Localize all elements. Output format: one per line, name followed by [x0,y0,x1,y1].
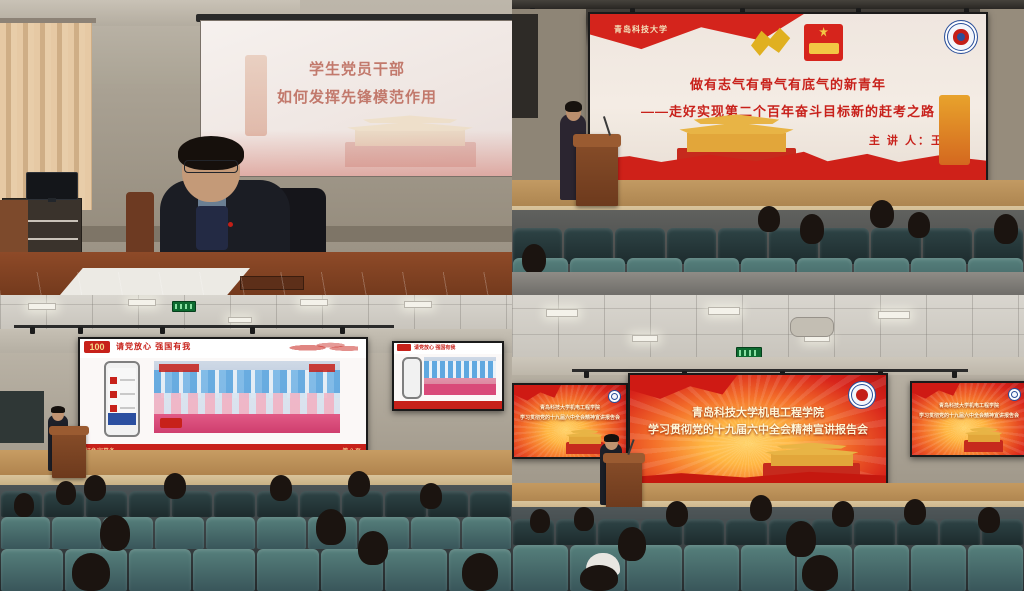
phone-mockup [104,361,140,437]
seat [193,549,255,591]
university-seal [944,20,978,54]
audience-head [100,515,130,551]
monument-right-graphic [939,95,971,166]
phone-bottom-banner [108,413,136,425]
seat [129,549,191,591]
side-screen-left-line2: 学习贯彻党的十九届六中全会精神宣讲报告会 [514,414,626,421]
ceiling-lamp [404,301,432,308]
led-screen[interactable]: 100 请党放心 强国有我 [78,337,368,458]
audience-head [348,471,370,497]
audience-head [870,200,894,228]
seat [726,519,767,545]
podium-top [573,134,622,147]
seat [257,549,319,591]
seat [385,549,447,591]
photo-top-left[interactable]: 学生党员干部 如何发挥先锋模范作用 [0,0,512,295]
ceiling-lamp [632,335,658,342]
side-screen-left-line1: 青岛科技大学机电工程学院 [514,404,626,411]
university-name-logo: 青岛科技大学 [614,24,668,35]
parade-front-row [154,393,340,415]
ceiling [512,295,1024,361]
spotlight-icon [340,327,345,334]
floor-front [512,272,1024,295]
seat [940,519,981,545]
side-screen-right[interactable]: 青岛科技大学机电工程学院 学习贯彻党的十九届六中全会精神宣讲报告会 [910,381,1024,457]
audience-head [14,493,34,517]
photo-bottom-left[interactable]: 100 请党放心 强国有我 [0,295,512,591]
speaker-glasses [184,160,238,173]
audience-seat-row [0,517,512,549]
slide-red-wash [201,130,512,177]
spotlight-icon [952,371,957,378]
audience-head [786,521,816,557]
seat [854,545,909,591]
audience-head [750,495,772,521]
audience-head [832,501,854,527]
phone-feed-item [110,377,117,384]
audience-head [758,206,780,232]
av-cabinet-shelf [28,220,78,222]
phone-feed-line [120,407,135,409]
desk-side [0,200,28,254]
seat [1,517,50,549]
seat [462,517,511,549]
slide-title-line1: 学生党员干部 [201,58,512,79]
air-vent [790,317,834,337]
audience-head [904,499,926,525]
speaker-hair [51,406,65,413]
exit-sign [172,301,196,312]
university-seal [1008,388,1021,401]
side-header-text: 请党放心 强国有我 [414,344,455,351]
seat [741,545,796,591]
monitor-stand [48,198,56,202]
seat [411,517,460,549]
wall-dark-panel [512,14,538,118]
ceiling-lamp [28,303,56,310]
ceiling-lamp [878,311,910,319]
inset-parade-photo [154,361,340,433]
phone-feed-item [110,405,117,412]
led-banner[interactable]: 青岛科技大学机电工程学院 学习贯彻党的十九届六中全会精神宣讲报告会 [628,373,888,487]
chair-side-panel [126,192,154,258]
podium-top [49,426,88,435]
slide-header-title: 请党放心 强国有我 [116,341,191,352]
speaker-hair [604,434,619,442]
curtain-rail [0,18,96,23]
audience-head [84,475,106,501]
phone-feed-line [120,379,135,381]
audience-head [800,214,824,244]
speaker-sweater [196,206,228,250]
ceiling-grid [512,295,1024,361]
seat [214,491,255,517]
ceiling-lamp [546,309,578,317]
spotlight-icon [78,327,83,334]
parade-banner-right [309,364,335,372]
audience-head [522,244,546,274]
photo-top-right[interactable]: 青岛科技大学 做有志气有骨气有底气的新青年 ——走好实现第二个百年奋斗目标新的赶… [512,0,1024,295]
lighting-bar [14,325,394,328]
seat [155,517,204,549]
spotlight-icon [584,371,589,378]
seat [513,545,568,591]
lighting-bar [572,369,968,372]
podium[interactable] [576,134,618,206]
audience-head [994,214,1018,244]
parade-banner-left [159,364,199,372]
ceiling-lamp [300,299,328,306]
party-badge [228,222,233,227]
side-inset-photo [424,357,496,395]
spotlight-icon [30,327,35,334]
av-cabinet-shelf-2 [28,238,78,240]
phone-feed-line [120,393,135,395]
seat [968,545,1023,591]
seat [206,517,255,549]
audience-head [666,501,688,527]
audience-head [530,509,550,533]
seat [257,517,306,549]
audience-head [580,565,618,591]
slide-title-line2: 如何发挥先锋模范作用 [201,86,512,107]
spotlight-icon [250,327,255,334]
seat [684,545,739,591]
ceiling-lamp [228,317,252,323]
audience-head [978,507,1000,533]
podium[interactable] [606,453,642,509]
screen-title: 做有志气有骨气有底气的新青年 [590,74,986,93]
anniversary-badge-100: 100 [84,341,110,353]
audience-head [270,475,292,501]
audience-head [802,555,838,591]
led-screen[interactable]: 青岛科技大学 做有志气有骨气有底气的新青年 ——走好实现第二个百年奋斗目标新的赶… [588,12,988,184]
podium[interactable] [52,426,86,478]
seat [470,491,511,517]
parade-badge-100 [160,418,182,428]
side-screen-right-line1: 青岛科技大学机电工程学院 [912,402,1024,409]
monitor[interactable] [26,172,78,200]
audience-head [462,553,498,591]
tiananmen-graphic [566,425,604,454]
photo-bottom-right[interactable]: 青岛科技大学机电工程学院 学习贯彻党的十九届六中全会精神宣讲报告会 青岛科技大学… [512,295,1024,591]
lecturer-hair [565,101,582,112]
banner-line2: 学习贯彻党的十九届六中全会精神宣讲报告会 [630,421,886,437]
spotlight-icon [160,327,165,334]
ceiling-lamp [708,307,740,315]
tiananmen-graphic [964,423,1003,452]
youth-league-emblem [804,24,844,61]
seat [911,545,966,591]
seat [52,517,101,549]
ceiling-lamp [128,299,156,306]
audience-head [358,531,388,565]
audience-head [316,509,346,545]
seat [1,549,63,591]
audience-head [72,553,110,591]
audience-head [56,481,76,505]
phone-feed-item [110,391,117,398]
photo-collage: 学生党员干部 如何发挥先锋模范作用 [0,0,1024,591]
table-grid-reflection [0,272,512,295]
side-footer-strip [394,401,502,409]
audience-head [618,527,646,561]
seat [684,519,725,545]
university-seal [608,390,621,403]
projection-screen[interactable]: 学生党员干部 如何发挥先锋模范作用 [200,20,512,177]
blackboard [0,391,44,443]
side-screen-right-line2: 学习贯彻党的十九届六中全会精神宣讲报告会 [912,412,1024,419]
audience-head [420,483,442,509]
audience-head [908,212,930,238]
podium-top [603,453,645,463]
side-badge-100 [397,344,411,351]
audience-head [574,507,594,531]
side-led-screen[interactable]: 请党放心 强国有我 [392,341,504,411]
seat [854,519,895,545]
audience-head [164,473,186,499]
banner-line1: 青岛科技大学机电工程学院 [630,404,886,420]
calligraphy-flourish [286,340,358,353]
side-phone-mockup [402,357,422,399]
ceiling-truss [512,0,1024,9]
seat [129,491,170,517]
